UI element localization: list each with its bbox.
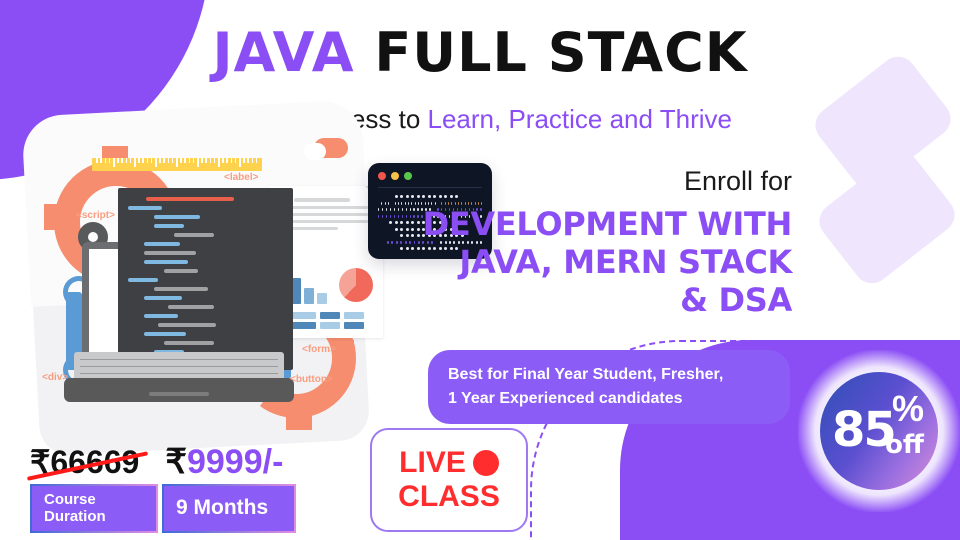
ruler-tick: [176, 158, 178, 167]
terminal-dot: [388, 202, 389, 205]
table-row: [290, 322, 316, 329]
table-row: [344, 312, 364, 319]
code-line: [144, 296, 182, 300]
best-for-box: Best for Final Year Student, Fresher, 1 …: [428, 350, 790, 424]
old-price: ₹66669: [30, 443, 139, 481]
ruler-tick: [142, 158, 144, 163]
coding-illustration: <script> <div> <label> <form> <button>: [18, 112, 368, 452]
ruler-tick: [121, 158, 123, 163]
ruler-tick: [163, 158, 165, 163]
ruler-tick: [214, 158, 216, 163]
ruler-tick: [168, 158, 170, 163]
bar: [304, 288, 314, 304]
title-full-stack: FULL STACK: [374, 21, 747, 84]
ruler-tick: [243, 158, 245, 163]
ruler-tick: [239, 158, 241, 167]
code-line: [144, 332, 186, 336]
ruler-tick: [197, 158, 199, 167]
terminal-dot: [422, 195, 425, 198]
rupee-symbol: ₹: [165, 443, 187, 481]
ruler-tick: [96, 158, 98, 163]
cloud-puff: [304, 143, 326, 160]
minimize-icon[interactable]: [391, 172, 399, 180]
subtitle-accent: Learn, Practice and Thrive: [428, 104, 732, 134]
live-dot-icon: [473, 450, 499, 476]
ruler-tick: [172, 158, 174, 163]
code-line: [154, 215, 200, 219]
title-java: JAVA: [212, 21, 354, 84]
banner-title: JAVA FULL STACK: [0, 26, 960, 80]
ruler-tick: [218, 158, 220, 167]
ruler-tick: [184, 158, 186, 163]
ruler-tick: [130, 158, 132, 163]
gear-tooth: [286, 410, 312, 430]
bar: [317, 293, 327, 304]
terminal-divider: [378, 187, 482, 188]
code-tag-label: <label>: [224, 172, 258, 183]
ruler-tick: [100, 158, 102, 163]
terminal-dot: [418, 202, 419, 205]
duration-label-line-2: Duration: [44, 508, 106, 525]
terminal-dot: [421, 202, 422, 205]
duration-label-line-1: Course: [44, 491, 106, 508]
code-line: [128, 278, 158, 282]
terminal-dot: [400, 195, 403, 198]
best-for-line-1: Best for Final Year Student, Fresher,: [448, 363, 770, 387]
live-class-badge[interactable]: LIVE CLASS: [370, 428, 528, 532]
terminal-dot: [428, 195, 431, 198]
headline-line-2: JAVA, MERN STACK: [372, 244, 792, 282]
code-tag-form: <form>: [302, 344, 336, 355]
code-line: [174, 233, 214, 237]
offer-headline: DEVELOPMENT WITH JAVA, MERN STACK & DSA: [372, 206, 792, 319]
new-price: ₹9999/-: [165, 442, 283, 482]
code-line: [158, 323, 216, 327]
terminal-dot: [433, 195, 436, 198]
terminal-dot: [391, 202, 392, 205]
table-row: [290, 312, 316, 319]
doc-line: [294, 198, 350, 202]
code-line: [144, 260, 188, 264]
new-price-value: 9999/-: [187, 443, 283, 481]
ruler-tick: [126, 158, 128, 163]
promo-banner: JAVA FULL STACK 2 Year Access to Learn, …: [0, 0, 960, 540]
ruler-tick: [235, 158, 237, 163]
ruler-tick: [201, 158, 203, 163]
terminal-dot: [455, 195, 458, 198]
ruler-tick: [247, 158, 249, 163]
live-row: LIVE: [399, 446, 499, 480]
code-line: [128, 206, 162, 210]
ruler-tick: [138, 158, 140, 163]
ruler-tick: [109, 158, 111, 163]
terminal-dot: [378, 195, 381, 198]
terminal-line: [378, 195, 482, 198]
ruler-tick: [210, 158, 212, 163]
terminal-dot: [439, 195, 442, 198]
maximize-icon[interactable]: [404, 172, 412, 180]
code-line: [164, 341, 214, 345]
code-editor-panel: [118, 188, 293, 370]
headline-line-1: DEVELOPMENT WITH: [372, 206, 792, 244]
terminal-dot: [395, 195, 398, 198]
table-row: [344, 322, 364, 329]
cloud-icon: [304, 138, 348, 160]
discount-percent-sign: %: [892, 388, 924, 430]
ruler-icon: [92, 158, 262, 171]
ruler-tick: [222, 158, 224, 163]
laptop-base: [64, 378, 294, 402]
code-line: [144, 242, 180, 246]
terminal-dot: [411, 195, 414, 198]
table-row: [320, 312, 340, 319]
code-tag-button: <button>: [290, 374, 333, 385]
code-line: [144, 251, 196, 255]
terminal-dot: [384, 195, 387, 198]
duration-label-box: Course Duration: [30, 484, 158, 533]
code-line: [146, 197, 234, 201]
ruler-tick: [117, 158, 119, 163]
terminal-dot: [398, 202, 399, 205]
terminal-dot: [378, 202, 379, 205]
terminal-traffic-lights: [378, 172, 482, 180]
terminal-dot: [444, 195, 447, 198]
ruler-tick: [231, 158, 233, 163]
terminal-dot: [406, 195, 409, 198]
code-line: [144, 314, 178, 318]
discount-off-label: off: [885, 430, 924, 460]
class-text: CLASS: [398, 480, 500, 514]
headline-line-3: & DSA: [372, 282, 792, 320]
terminal-dot: [395, 202, 396, 205]
gear-tooth: [44, 204, 64, 230]
live-text: LIVE: [399, 446, 466, 480]
terminal-dot: [405, 202, 406, 205]
terminal-dot: [415, 202, 416, 205]
ruler-tick: [256, 158, 258, 163]
pie-chart: [339, 268, 373, 302]
ruler-tick: [205, 158, 207, 163]
ruler-tick: [134, 158, 136, 167]
code-line: [168, 305, 214, 309]
ruler-tick: [180, 158, 182, 163]
keyboard-row: [80, 359, 278, 365]
code-tag-script: <script>: [76, 210, 115, 221]
course-duration-row: Course Duration 9 Months: [30, 484, 296, 533]
ruler-tick: [189, 158, 191, 163]
ruler-tick: [155, 158, 157, 167]
ruler-tick: [105, 158, 107, 163]
duration-value-box: 9 Months: [162, 484, 296, 533]
terminal-dot: [417, 195, 420, 198]
terminal-dot: [411, 202, 412, 205]
terminal-dot: [389, 195, 392, 198]
terminal-dot: [408, 202, 409, 205]
best-for-line-2: 1 Year Experienced candidates: [448, 387, 770, 411]
terminal-dot: [450, 195, 453, 198]
code-line: [154, 287, 208, 291]
terminal-dot: [385, 202, 386, 205]
ruler-tick: [113, 158, 115, 167]
terminal-dot: [401, 202, 402, 205]
price-row: ₹66669 ₹9999/-: [30, 442, 283, 482]
code-line: [154, 224, 184, 228]
lavender-square-two: [812, 145, 960, 290]
enroll-label: Enroll for: [684, 166, 792, 197]
ruler-tick: [159, 158, 161, 163]
ruler-tick: [193, 158, 195, 163]
close-icon[interactable]: [378, 172, 386, 180]
table-row: [320, 322, 340, 329]
discount-badge: 85 % off: [820, 372, 938, 490]
ruler-tick: [151, 158, 153, 163]
keyboard-row: [80, 366, 278, 372]
ruler-tick: [252, 158, 254, 163]
terminal-dot: [381, 202, 382, 205]
code-tag-div: <div>: [42, 372, 68, 383]
ruler-tick: [226, 158, 228, 163]
code-line: [164, 269, 198, 273]
ruler-tick: [147, 158, 149, 163]
